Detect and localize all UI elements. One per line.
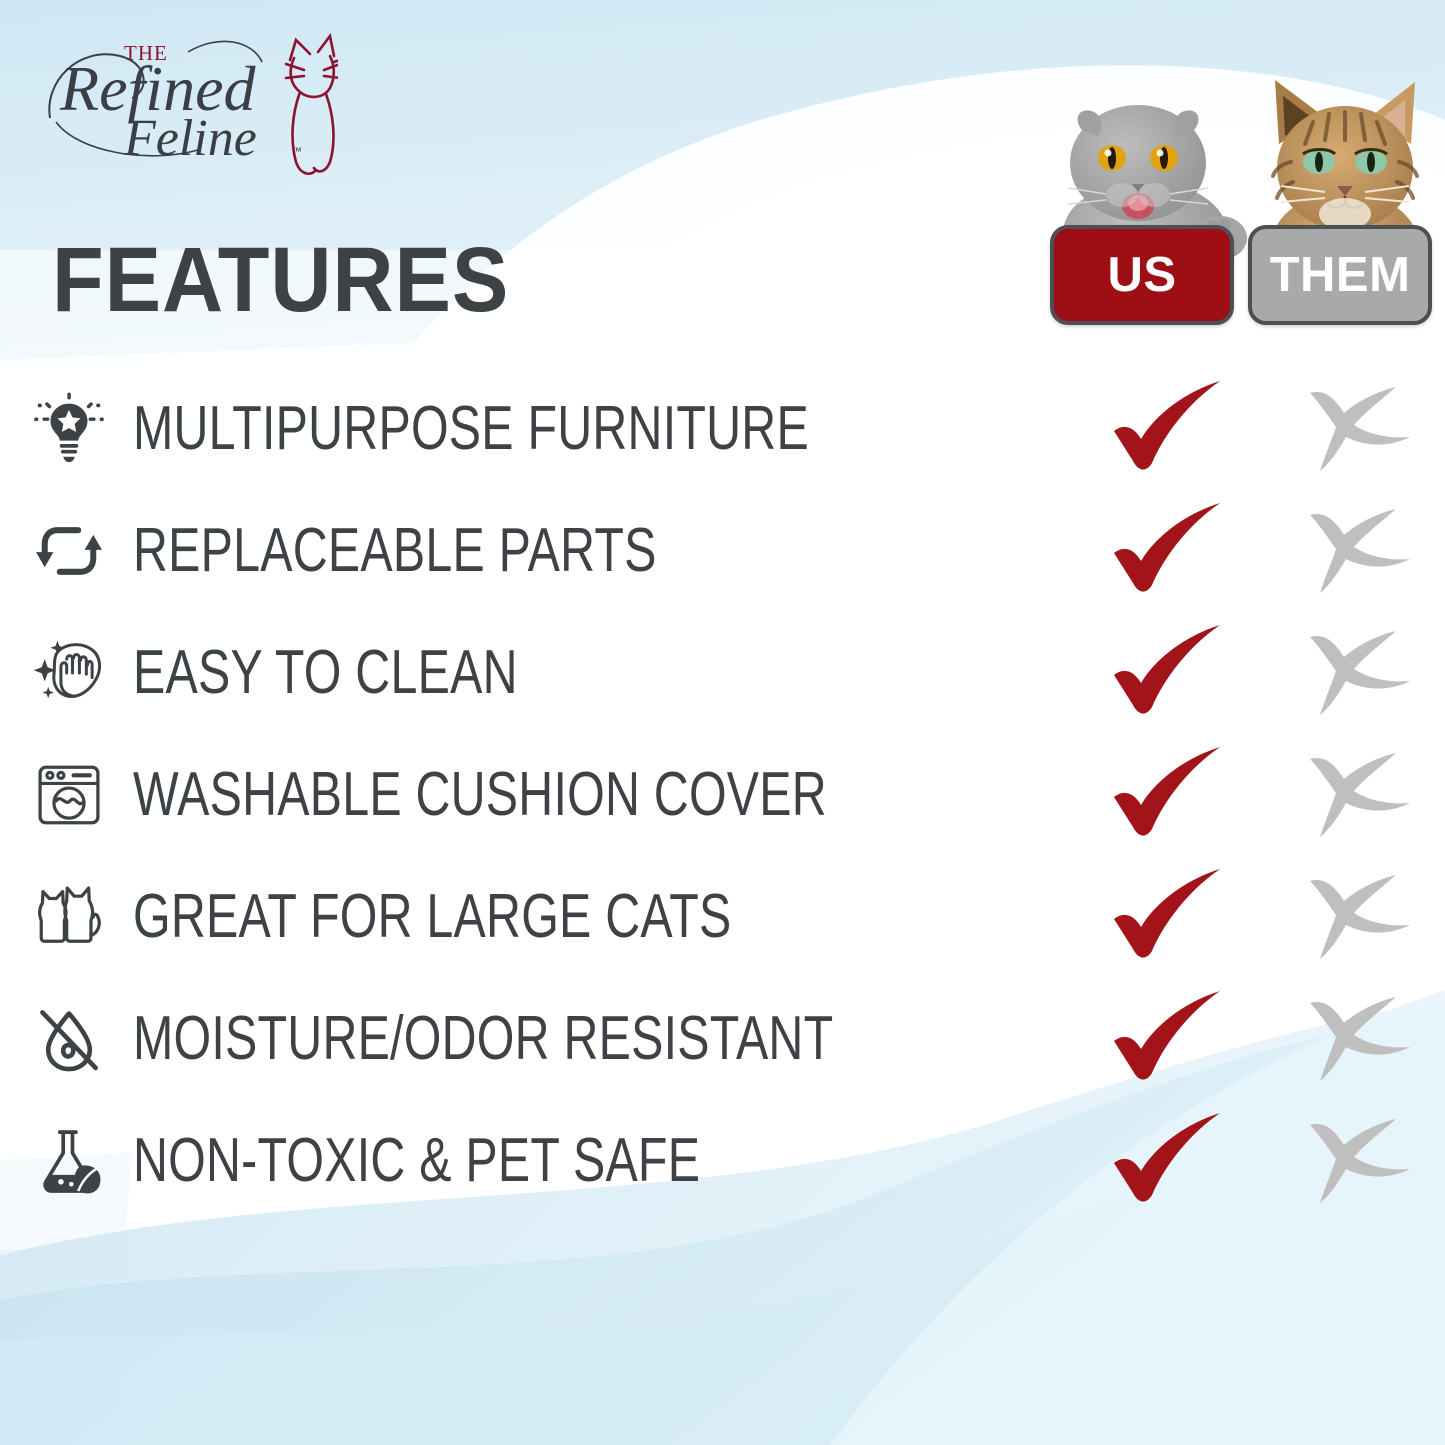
- us-check-mark: [1108, 1111, 1228, 1211]
- lightbulb-star-icon: [26, 386, 112, 472]
- page-title: FEATURES: [52, 228, 509, 333]
- flask-leaf-icon: [26, 1118, 112, 1204]
- them-x-mark: [1300, 867, 1420, 967]
- features-list: MULTIPURPOSE FURNITURE: [0, 368, 1445, 1222]
- feature-label: MULTIPURPOSE FURNITURE: [133, 393, 809, 465]
- us-check-mark: [1108, 623, 1228, 723]
- feature-label: WASHABLE CUSHION COVER: [133, 759, 827, 831]
- no-water-droplet-icon: [26, 996, 112, 1082]
- swap-arrows-icon: [26, 508, 112, 594]
- them-x-mark: [1300, 379, 1420, 479]
- washing-machine-icon: [26, 752, 112, 838]
- them-x-mark: [1300, 501, 1420, 601]
- feature-row: WASHABLE CUSHION COVER: [0, 734, 1445, 856]
- feature-row: NON-TOXIC & PET SAFE: [0, 1100, 1445, 1222]
- feature-row: MOISTURE/ODOR RESISTANT: [0, 978, 1445, 1100]
- them-badge[interactable]: THEM: [1248, 225, 1432, 325]
- them-x-mark: [1300, 989, 1420, 1089]
- feature-label: REPLACEABLE PARTS: [133, 515, 657, 587]
- feature-comparison-infographic: THE Refined Feline ™: [0, 0, 1445, 1445]
- us-them-header: US THEM: [1040, 58, 1440, 338]
- feature-row: MULTIPURPOSE FURNITURE: [0, 368, 1445, 490]
- them-x-mark: [1300, 1111, 1420, 1211]
- us-check-mark: [1108, 501, 1228, 601]
- us-check-mark: [1108, 745, 1228, 845]
- feature-label: NON-TOXIC & PET SAFE: [133, 1125, 700, 1197]
- us-check-mark: [1108, 867, 1228, 967]
- us-check-mark: [1108, 989, 1228, 1089]
- feature-label: MOISTURE/ODOR RESISTANT: [133, 1003, 833, 1075]
- brand-logo: THE Refined Feline ™: [38, 22, 338, 182]
- feature-row: GREAT FOR LARGE CATS: [0, 856, 1445, 978]
- them-x-mark: [1300, 623, 1420, 723]
- two-cats-icon: [26, 874, 112, 960]
- logo-feline-text: Feline: [123, 110, 257, 167]
- comparison-badges: US THEM: [1050, 225, 1432, 325]
- them-x-mark: [1300, 745, 1420, 845]
- logo-cat-icon: [286, 36, 338, 174]
- feature-label: EASY TO CLEAN: [133, 637, 518, 709]
- feature-row: EASY TO CLEAN: [0, 612, 1445, 734]
- wiping-hand-sparkle-icon: [26, 630, 112, 716]
- us-badge[interactable]: US: [1050, 225, 1234, 325]
- feature-row: REPLACEABLE PARTS: [0, 490, 1445, 612]
- feature-label: GREAT FOR LARGE CATS: [133, 881, 732, 953]
- us-check-mark: [1108, 379, 1228, 479]
